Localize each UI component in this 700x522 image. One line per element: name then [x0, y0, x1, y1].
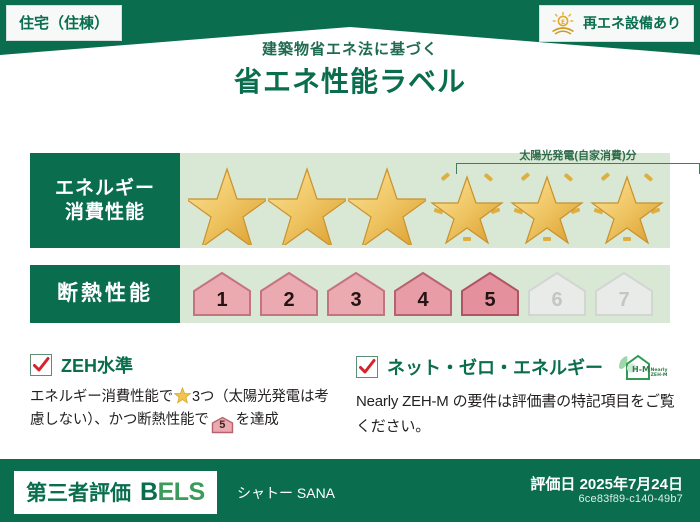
bels-en-label: BELS [140, 478, 205, 507]
insulation-level-badge-selected: 5 [458, 269, 522, 319]
insulation-level-badge: 6 [525, 269, 589, 319]
building-type-tag: 住宅（住棟） [6, 5, 122, 41]
evaluation-date: 評価日 2025年7月24日 [530, 473, 683, 494]
checkmark-icon [30, 354, 52, 376]
svg-text:E: E [561, 19, 565, 26]
nearly-zeh-m-logo-icon: H-M Nearly ZEH-M [616, 352, 668, 382]
zeh-standard-title: ZEH水準 [61, 352, 133, 378]
insulation-level-badge: 2 [257, 269, 321, 319]
bels-jp-label: 第三者評価 [26, 477, 131, 507]
net-zero-energy-block: ネット・ゼロ・エネルギー H-M Nearly ZEH-M Nearly ZEH… [356, 352, 676, 440]
renewable-energy-badge-label: 再エネ設備あり [583, 13, 681, 33]
sun-renewable-icon: E [550, 11, 576, 35]
energy-star-rating [188, 155, 666, 247]
insulation-level-badge: 1 [190, 269, 254, 319]
insulation-level-badge: 3 [324, 269, 388, 319]
star-icon [188, 157, 266, 245]
zeh-standard-heading: ZEH水準 [30, 352, 340, 378]
bels-certification-mark: 第三者評価 BELS [14, 471, 217, 514]
insulation-levels-panel: 1 2 3 4 5 [180, 265, 670, 323]
zeh-standard-block: ZEH水準 エネルギー消費性能で3つ（太陽光発電は考慮しない）、かつ断熱性能で5… [30, 352, 340, 434]
label-footer: 第三者評価 BELS シャトー SANA 評価日 2025年7月24日 6ce8… [0, 459, 700, 522]
star-solar-icon [588, 157, 666, 245]
building-name: シャトー SANA [237, 483, 335, 503]
checkmark-icon [356, 356, 378, 378]
insulation-level-inline-icon: 5 [211, 416, 234, 434]
energy-stars-panel: 太陽光発電(自家消費)分 [180, 153, 670, 248]
insulation-performance-caption: 断熱性能 [30, 265, 180, 323]
net-zero-energy-heading: ネット・ゼロ・エネルギー H-M Nearly ZEH-M [356, 352, 676, 382]
star-icon [174, 387, 191, 404]
energy-performance-caption: エネルギー 消費性能 [30, 153, 180, 248]
star-solar-icon [428, 157, 506, 245]
insulation-level-scale: 1 2 3 4 5 [190, 269, 656, 319]
svg-text:H-M: H-M [632, 365, 650, 374]
renewable-energy-badge: E 再エネ設備あり [539, 5, 694, 42]
star-solar-icon [508, 157, 586, 245]
energy-performance-label: ハウスラベ 住宅（住棟） E 再エネ設備あり 建築物省エネ法に基づく 省エネ性能… [0, 0, 700, 522]
zeh-standard-description: エネルギー消費性能で3つ（太陽光発電は考慮しない）、かつ断熱性能で5を達成 [30, 386, 340, 434]
net-zero-energy-title: ネット・ゼロ・エネルギー [387, 354, 603, 380]
evaluation-id: 6ce83f89-c140-49b7 [578, 493, 683, 505]
label-subtitle: 建築物省エネ法に基づく [0, 38, 700, 59]
label-title: 省エネ性能ラベル [0, 60, 700, 100]
insulation-performance-row: 断熱性能 1 2 3 4 [30, 265, 670, 323]
star-icon [268, 157, 346, 245]
svg-text:ZEH-M: ZEH-M [651, 372, 668, 378]
insulation-level-badge: 7 [592, 269, 656, 319]
net-zero-energy-description: Nearly ZEH-M の要件は評価書の特記項目をご覧ください。 [356, 390, 676, 440]
energy-performance-row: エネルギー 消費性能 太陽光発電(自家消費)分 [30, 153, 670, 248]
insulation-level-badge: 4 [391, 269, 455, 319]
star-icon [348, 157, 426, 245]
